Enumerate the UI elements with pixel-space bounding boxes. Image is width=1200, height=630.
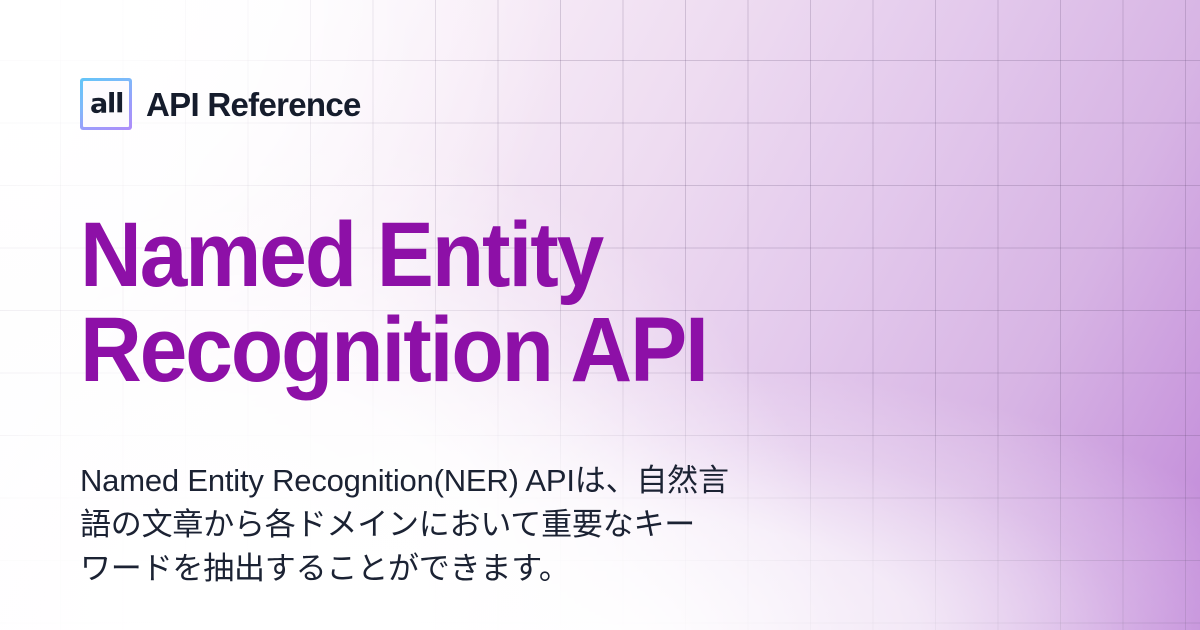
page-title-line-1: Named Entity — [80, 208, 731, 303]
all-ai-logo-mark-icon: all — [80, 78, 132, 130]
page-description-line-2: 語の文章から各ドメインにおいて重要なキー — [80, 503, 860, 547]
page-title: Named Entity Recognition API — [80, 208, 731, 398]
brand-header: all API Reference — [80, 78, 1200, 130]
og-card: all API Reference Named Entity Recogniti… — [0, 0, 1200, 630]
brand-title: API Reference — [146, 88, 361, 121]
card-content: all API Reference Named Entity Recogniti… — [0, 0, 1200, 630]
page-description: Named Entity Recognition(NER) APIは、自然言 語… — [80, 459, 860, 591]
page-title-line-2: Recognition API — [80, 303, 731, 398]
logo-wordmark: all — [90, 91, 123, 118]
page-description-line-3: ワードを抽出することができます。 — [80, 547, 860, 591]
page-description-line-1: Named Entity Recognition(NER) APIは、自然言 — [80, 459, 860, 503]
logo-mark-inner: all — [83, 81, 129, 127]
